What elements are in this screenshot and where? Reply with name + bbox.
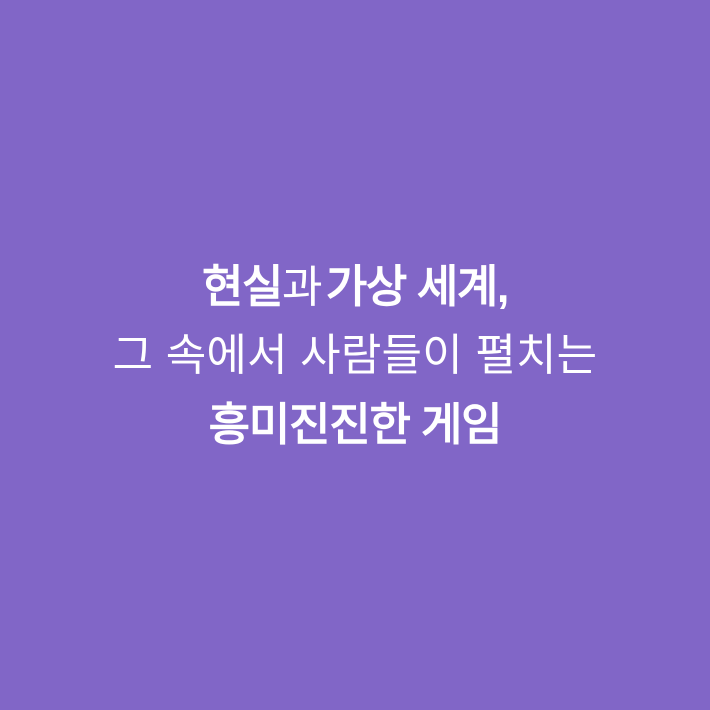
headline-line-1-segment-bold-1: 현실	[202, 261, 282, 312]
headline-line-3-segment-bold-1: 흥미진진한 게임	[209, 399, 502, 450]
headline-text-block: 현실과 가상 세계, 그 속에서 사람들이 펼치는 흥미진진한 게임	[0, 252, 710, 459]
headline-line-1-segment-bold-2: 가상 세계,	[326, 261, 508, 312]
headline-line-1: 현실과 가상 세계,	[0, 252, 710, 321]
headline-line-2-segment-light-1: 그 속에서 사람들이 펼치는	[113, 331, 598, 380]
headline-line-1-segment-light-1: 과	[282, 263, 322, 312]
poster-canvas: 현실과 가상 세계, 그 속에서 사람들이 펼치는 흥미진진한 게임	[0, 0, 710, 710]
headline-line-3: 흥미진진한 게임	[0, 390, 710, 459]
headline-line-2: 그 속에서 사람들이 펼치는	[0, 321, 710, 390]
